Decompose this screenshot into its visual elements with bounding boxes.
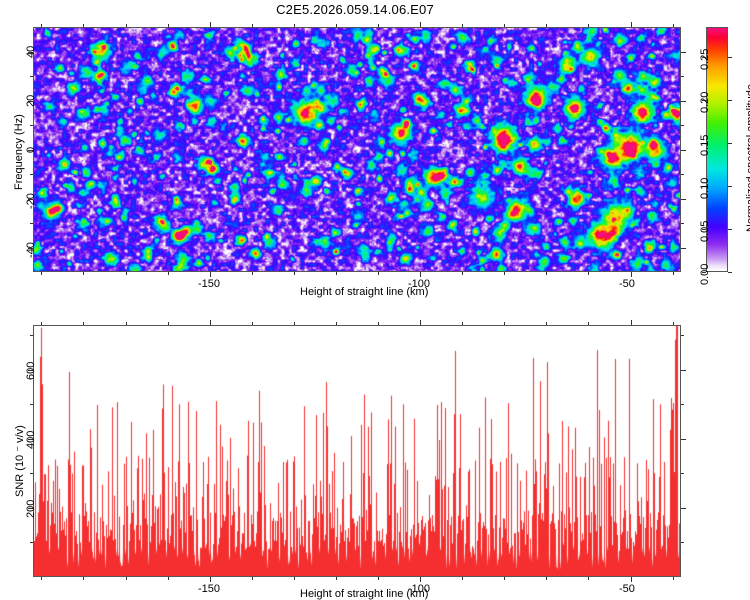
axis-tick: [41, 577, 42, 580]
axis-tick: [546, 322, 547, 325]
axis-tick: [41, 322, 42, 325]
colorbar-tick-label: 0.15: [699, 134, 711, 155]
axis-tick: [294, 322, 295, 325]
axis-tick: [252, 272, 253, 275]
axis-tick: [631, 22, 632, 27]
axis-tick: [681, 370, 686, 371]
axis-tick: [681, 174, 684, 175]
axis-tick-label: -50: [619, 278, 635, 290]
axis-tick: [336, 322, 337, 325]
axis-tick: [168, 24, 169, 27]
axis-tick-label: 400: [25, 431, 37, 449]
axis-tick: [504, 24, 505, 27]
axis-tick-label: 600: [25, 362, 37, 380]
axis-tick: [728, 100, 732, 101]
axis-tick: [673, 322, 674, 325]
axis-tick: [588, 577, 589, 580]
axis-tick: [504, 272, 505, 275]
axis-tick-label: 40: [25, 46, 37, 58]
axis-tick: [30, 223, 33, 224]
colorbar-tick-label: 0.00: [699, 263, 711, 284]
axis-tick: [83, 272, 84, 275]
axis-tick: [681, 223, 684, 224]
axis-tick: [420, 272, 421, 277]
axis-tick: [631, 320, 632, 325]
axis-tick: [681, 542, 684, 543]
axis-tick: [252, 24, 253, 27]
axis-tick: [30, 335, 33, 336]
axis-tick: [83, 24, 84, 27]
axis-tick: [681, 248, 686, 249]
axis-tick: [504, 577, 505, 580]
axis-tick: [168, 577, 169, 580]
colorbar-tick-label: 0.25: [699, 48, 711, 69]
axis-tick: [210, 22, 211, 27]
colorbar-label: Normalized spectral amplitude: [745, 84, 750, 232]
axis-tick: [126, 322, 127, 325]
axis-tick: [681, 52, 686, 53]
axis-tick-label: -20: [25, 193, 37, 209]
figure-canvas: C2E5.2026.059.14.06.E07 -150-100-50-40-2…: [0, 0, 750, 600]
axis-tick-label: -50: [619, 583, 635, 595]
axis-tick: [504, 322, 505, 325]
axis-tick: [210, 320, 211, 325]
axis-tick: [681, 508, 686, 509]
axis-tick: [681, 439, 686, 440]
axis-tick: [681, 76, 684, 77]
axis-tick: [546, 272, 547, 275]
axis-tick: [588, 272, 589, 275]
axis-tick: [30, 542, 33, 543]
axis-tick: [41, 272, 42, 275]
axis-tick: [546, 24, 547, 27]
axis-tick: [681, 101, 686, 102]
axis-tick: [728, 272, 732, 273]
axis-tick: [126, 24, 127, 27]
axis-tick: [546, 577, 547, 580]
snr-panel: [33, 325, 681, 577]
axis-tick: [336, 24, 337, 27]
axis-tick: [420, 22, 421, 27]
axis-tick: [631, 577, 632, 582]
axis-tick: [462, 322, 463, 325]
axis-tick: [252, 577, 253, 580]
axis-tick: [294, 24, 295, 27]
axis-tick: [126, 577, 127, 580]
axis-tick: [126, 272, 127, 275]
axis-tick: [462, 272, 463, 275]
snr-xlabel: Height of straight line (km): [300, 588, 428, 600]
axis-tick: [252, 322, 253, 325]
axis-tick: [420, 577, 421, 582]
axis-tick: [681, 125, 684, 126]
axis-tick-label: 200: [25, 500, 37, 518]
axis-tick: [681, 150, 686, 151]
axis-tick: [336, 272, 337, 275]
axis-tick: [336, 577, 337, 580]
axis-tick-label: -40: [25, 242, 37, 258]
axis-tick: [673, 577, 674, 580]
axis-tick: [294, 577, 295, 580]
axis-tick: [294, 272, 295, 275]
axis-tick: [420, 320, 421, 325]
axis-tick: [30, 76, 33, 77]
spectrogram-ylabel: Frequency (Hz): [13, 114, 25, 190]
axis-tick: [168, 322, 169, 325]
axis-tick: [588, 322, 589, 325]
axis-tick: [378, 272, 379, 275]
axis-tick: [83, 577, 84, 580]
axis-tick: [681, 199, 686, 200]
snr-ylabel: SNR (10 ⁻ v/v): [13, 425, 26, 497]
axis-tick: [30, 125, 33, 126]
snr-plot: [34, 326, 680, 576]
axis-tick-label: 20: [25, 95, 37, 107]
axis-tick: [378, 322, 379, 325]
axis-tick: [728, 143, 732, 144]
figure-title: C2E5.2026.059.14.06.E07: [0, 2, 710, 17]
axis-tick: [30, 473, 33, 474]
spectrogram-xlabel: Height of straight line (km): [300, 286, 428, 298]
axis-tick: [41, 24, 42, 27]
axis-tick: [681, 404, 684, 405]
axis-tick: [168, 272, 169, 275]
axis-tick: [728, 186, 732, 187]
axis-tick: [728, 229, 732, 230]
axis-tick: [673, 272, 674, 275]
spectrogram-image: [34, 28, 680, 271]
axis-tick: [83, 322, 84, 325]
axis-tick: [462, 577, 463, 580]
axis-tick: [378, 24, 379, 27]
axis-tick: [30, 174, 33, 175]
axis-tick: [631, 272, 632, 277]
axis-tick: [728, 57, 732, 58]
colorbar-tick-label: 0.10: [699, 177, 711, 198]
axis-tick-label: -150: [198, 583, 220, 595]
axis-tick: [588, 24, 589, 27]
colorbar-tick-label: 0.05: [699, 220, 711, 241]
axis-tick: [378, 577, 379, 580]
axis-tick: [210, 272, 211, 277]
axis-tick: [681, 473, 684, 474]
axis-tick: [30, 404, 33, 405]
axis-tick: [681, 335, 684, 336]
axis-tick: [462, 24, 463, 27]
axis-tick: [210, 577, 211, 582]
colorbar-tick-label: 0.20: [699, 91, 711, 112]
spectrogram-panel: [33, 27, 681, 272]
axis-tick-label: -150: [198, 278, 220, 290]
axis-tick: [673, 24, 674, 27]
axis-tick-label: 0: [25, 147, 37, 153]
